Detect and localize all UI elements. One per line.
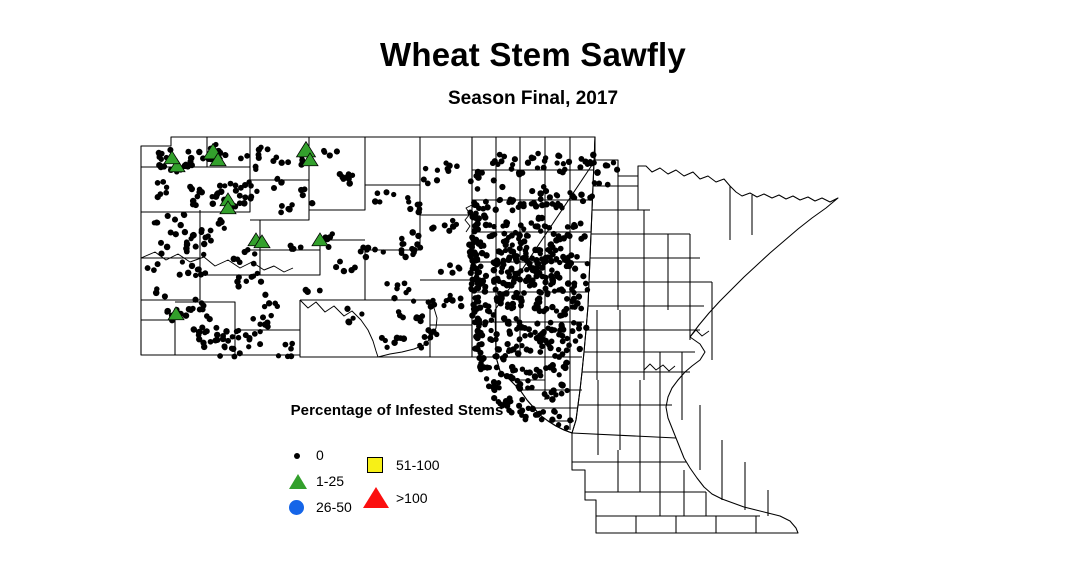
survey-point	[564, 296, 570, 302]
survey-point	[233, 182, 239, 188]
survey-point	[252, 331, 258, 337]
survey-point	[238, 156, 244, 162]
survey-point	[190, 202, 195, 207]
survey-point	[556, 347, 561, 352]
survey-point	[251, 261, 257, 267]
survey-point	[469, 287, 474, 292]
survey-point	[526, 233, 531, 238]
survey-point	[474, 335, 481, 342]
survey-point	[156, 162, 163, 169]
survey-point	[557, 169, 563, 175]
survey-point	[517, 381, 523, 387]
survey-point	[487, 336, 493, 342]
survey-point	[493, 207, 499, 213]
survey-point	[182, 229, 188, 235]
survey-point	[522, 333, 528, 339]
survey-point	[550, 251, 556, 257]
survey-point	[350, 173, 355, 178]
survey-point	[183, 245, 190, 252]
survey-point	[298, 244, 304, 250]
survey-point	[473, 252, 479, 258]
survey-point	[223, 328, 229, 334]
survey-point	[391, 295, 397, 301]
survey-point	[406, 287, 411, 292]
survey-point	[497, 197, 503, 203]
survey-point	[300, 192, 306, 198]
survey-point	[257, 341, 263, 347]
survey-point	[501, 258, 507, 264]
survey-point	[193, 273, 198, 278]
survey-point	[557, 153, 563, 159]
survey-point	[202, 270, 208, 276]
survey-point	[246, 344, 251, 349]
survey-point	[556, 422, 561, 427]
survey-point	[472, 346, 478, 352]
survey-point	[327, 152, 333, 158]
survey-point	[542, 158, 548, 164]
survey-point	[235, 283, 241, 289]
survey-point	[208, 228, 214, 234]
survey-point	[552, 289, 557, 294]
survey-point	[547, 225, 553, 231]
survey-point	[472, 295, 478, 301]
survey-point	[531, 200, 537, 206]
survey-point	[493, 331, 499, 337]
survey-point	[498, 371, 505, 378]
survey-point	[566, 263, 573, 270]
survey-point	[164, 185, 169, 190]
survey-point	[548, 282, 553, 287]
survey-point	[532, 330, 537, 335]
survey-point	[492, 232, 498, 238]
survey-point	[458, 303, 464, 309]
survey-point	[489, 317, 495, 323]
survey-point	[509, 306, 514, 311]
survey-point	[473, 305, 478, 310]
survey-point	[454, 163, 460, 169]
survey-point	[399, 250, 405, 256]
survey-point	[434, 177, 440, 183]
survey-point	[495, 346, 502, 353]
survey-point	[517, 201, 523, 207]
survey-point	[164, 244, 171, 251]
survey-point	[217, 353, 223, 359]
survey-point	[524, 370, 530, 376]
survey-point	[265, 146, 271, 152]
survey-point	[578, 306, 584, 312]
survey-point	[202, 234, 208, 240]
survey-point	[484, 204, 490, 210]
survey-point	[158, 251, 164, 257]
survey-point	[532, 373, 539, 380]
survey-point	[479, 170, 485, 176]
survey-point	[561, 235, 567, 241]
survey-point	[578, 156, 584, 162]
survey-point	[400, 314, 406, 320]
survey-point	[496, 385, 501, 390]
survey-point	[536, 299, 542, 305]
survey-point	[523, 251, 529, 257]
survey-point	[583, 325, 589, 331]
survey-point	[539, 215, 545, 221]
survey-point	[543, 275, 549, 281]
survey-point	[217, 217, 223, 223]
survey-point	[562, 257, 568, 263]
survey-point	[567, 417, 573, 423]
survey-point	[181, 212, 187, 218]
survey-point	[474, 270, 480, 276]
survey-point	[241, 200, 248, 207]
survey-point	[524, 245, 530, 251]
survey-point	[457, 266, 463, 272]
survey-point	[375, 190, 381, 196]
legend-label-51-100: 51-100	[396, 454, 440, 476]
survey-point	[242, 194, 248, 200]
survey-point	[478, 330, 483, 335]
survey-point	[417, 315, 422, 320]
survey-point	[204, 313, 210, 319]
survey-point	[585, 287, 590, 292]
survey-point	[208, 238, 214, 244]
survey-point	[450, 223, 457, 230]
survey-point	[578, 221, 584, 227]
survey-point	[199, 227, 205, 233]
survey-point	[540, 409, 546, 415]
survey-point	[521, 290, 527, 296]
survey-point	[246, 179, 251, 184]
survey-point	[236, 274, 242, 280]
survey-point	[524, 267, 529, 272]
survey-point	[468, 178, 474, 184]
survey-point	[497, 152, 503, 158]
survey-point	[352, 265, 358, 271]
survey-point	[190, 232, 196, 238]
survey-point	[258, 279, 264, 285]
survey-point	[210, 200, 216, 206]
legend: Percentage of Infested Stems 0 1-25 26-5…	[262, 402, 532, 520]
survey-point	[558, 381, 564, 387]
survey-point	[222, 226, 227, 231]
survey-point	[510, 207, 516, 213]
survey-point	[441, 303, 446, 308]
survey-point	[525, 160, 531, 166]
survey-point	[525, 378, 531, 384]
survey-point	[230, 346, 236, 352]
survey-point	[346, 319, 352, 325]
survey-point	[492, 354, 497, 359]
green-triangle-icon	[289, 474, 307, 489]
survey-point	[491, 177, 497, 183]
survey-point	[538, 196, 544, 202]
survey-point	[513, 290, 519, 296]
survey-point	[549, 267, 555, 273]
survey-point	[534, 321, 540, 327]
survey-point	[556, 354, 562, 360]
survey-point	[192, 297, 198, 303]
survey-point	[253, 164, 259, 170]
survey-point	[499, 269, 505, 275]
survey-point	[155, 194, 161, 200]
survey-point	[569, 193, 576, 200]
survey-point	[605, 182, 611, 188]
survey-point	[580, 273, 586, 279]
survey-point	[199, 189, 205, 195]
survey-point	[372, 247, 378, 253]
survey-point	[431, 329, 437, 335]
survey-point	[244, 153, 250, 159]
survey-point	[501, 231, 507, 237]
survey-point	[417, 343, 422, 348]
survey-point	[279, 203, 285, 209]
survey-point	[258, 145, 263, 150]
survey-point	[245, 247, 251, 253]
survey-point	[548, 320, 554, 326]
survey-point	[237, 193, 243, 199]
survey-point	[407, 206, 413, 212]
survey-point	[260, 314, 266, 320]
survey-point	[500, 223, 505, 228]
survey-point	[265, 324, 271, 330]
survey-point	[189, 263, 195, 269]
survey-point	[275, 304, 280, 309]
survey-point	[155, 261, 161, 267]
survey-point	[519, 343, 524, 348]
survey-point	[567, 233, 573, 239]
survey-point	[525, 385, 530, 390]
survey-point	[447, 297, 452, 302]
survey-point	[275, 176, 280, 181]
survey-point	[258, 329, 263, 334]
survey-point	[543, 255, 549, 261]
survey-point	[502, 353, 508, 359]
survey-point	[341, 268, 347, 274]
legend-label-26-50: 26-50	[316, 496, 352, 518]
survey-point	[278, 210, 284, 216]
survey-point	[409, 246, 415, 252]
survey-point	[173, 231, 179, 237]
survey-point	[509, 166, 515, 172]
survey-point	[145, 265, 151, 271]
survey-point	[270, 158, 276, 164]
survey-point	[492, 261, 497, 266]
survey-point	[180, 259, 185, 264]
survey-point	[256, 152, 262, 158]
survey-point	[484, 365, 490, 371]
survey-point	[244, 278, 250, 284]
survey-point	[337, 259, 343, 265]
survey-point	[566, 342, 572, 348]
survey-point	[554, 308, 559, 313]
survey-point	[543, 365, 549, 371]
survey-point	[564, 347, 570, 353]
survey-point	[549, 390, 555, 396]
survey-point	[534, 261, 539, 266]
state-county-map	[0, 0, 1066, 587]
survey-point	[473, 211, 479, 217]
survey-point	[199, 324, 205, 330]
survey-point	[303, 287, 309, 293]
survey-point	[551, 231, 557, 237]
survey-point	[186, 306, 193, 313]
survey-point	[487, 309, 493, 315]
survey-point	[545, 340, 550, 345]
survey-point	[491, 267, 498, 274]
legend-title: Percentage of Infested Stems	[262, 402, 532, 419]
survey-point	[517, 245, 523, 251]
survey-point	[577, 164, 583, 170]
survey-point	[614, 167, 620, 173]
survey-point	[213, 325, 219, 331]
survey-point	[571, 281, 577, 287]
survey-point	[254, 189, 259, 194]
survey-point	[469, 281, 475, 287]
survey-point	[541, 165, 547, 171]
survey-point	[539, 331, 546, 338]
survey-point	[576, 293, 582, 299]
survey-point	[383, 189, 389, 195]
survey-point	[276, 353, 281, 358]
survey-point	[558, 246, 564, 252]
survey-point	[288, 353, 294, 359]
survey-point	[428, 303, 434, 309]
map-figure: Wheat Stem Sawfly Season Final, 2017	[0, 0, 1066, 587]
survey-point	[197, 306, 203, 312]
survey-point	[509, 233, 515, 239]
survey-point	[450, 218, 456, 224]
survey-point	[585, 261, 590, 266]
survey-point	[317, 288, 323, 294]
survey-point	[481, 212, 487, 218]
survey-point	[334, 148, 340, 154]
survey-point	[155, 180, 161, 186]
survey-point	[155, 220, 161, 226]
survey-point	[201, 252, 206, 257]
survey-point	[555, 193, 561, 199]
survey-point	[605, 163, 610, 168]
survey-point	[196, 332, 202, 338]
survey-point	[522, 325, 528, 331]
survey-point	[537, 339, 543, 345]
survey-point	[503, 290, 509, 296]
survey-point	[422, 334, 428, 340]
survey-point	[391, 192, 396, 197]
survey-point	[493, 287, 499, 293]
survey-point	[490, 160, 496, 166]
survey-point	[344, 306, 350, 312]
survey-point	[447, 262, 453, 268]
survey-point	[577, 333, 583, 339]
survey-point	[417, 245, 423, 251]
survey-point	[536, 289, 542, 295]
blue-circle-icon	[289, 500, 304, 515]
map-canvas	[0, 0, 1066, 587]
survey-point	[488, 328, 493, 333]
survey-point	[564, 425, 570, 431]
survey-point	[184, 239, 190, 245]
survey-point	[476, 317, 482, 323]
survey-point	[285, 206, 291, 212]
survey-point	[482, 284, 488, 290]
survey-point	[154, 286, 159, 291]
survey-point	[557, 260, 562, 265]
survey-point	[518, 268, 523, 273]
survey-point	[576, 325, 582, 331]
survey-point	[236, 335, 242, 341]
survey-point	[542, 223, 548, 229]
survey-point	[533, 412, 539, 418]
survey-point	[548, 258, 554, 264]
survey-point	[195, 194, 201, 200]
red-triangle-icon	[363, 487, 389, 508]
survey-point	[506, 328, 512, 334]
survey-point	[537, 190, 544, 197]
survey-point	[497, 279, 502, 284]
survey-point	[446, 163, 452, 169]
survey-point	[162, 293, 168, 299]
survey-point	[217, 183, 223, 189]
survey-point	[196, 149, 202, 155]
survey-point	[363, 254, 369, 260]
survey-point	[535, 165, 540, 170]
survey-point	[399, 236, 405, 242]
survey-point	[396, 309, 401, 314]
survey-point	[469, 257, 475, 263]
survey-point	[556, 287, 561, 292]
survey-point	[551, 408, 557, 414]
survey-point	[230, 334, 235, 339]
survey-point	[228, 181, 234, 187]
survey-point	[477, 365, 482, 370]
survey-point	[531, 155, 536, 160]
survey-point	[538, 228, 543, 233]
survey-point	[494, 365, 500, 371]
survey-point	[537, 247, 543, 253]
survey-point	[289, 341, 295, 347]
legend-label-0: 0	[316, 444, 324, 466]
yellow-square-icon	[367, 457, 383, 473]
survey-point	[506, 255, 512, 261]
survey-point	[483, 199, 489, 205]
survey-point	[471, 228, 477, 234]
survey-point	[201, 344, 207, 350]
survey-point	[535, 151, 541, 157]
survey-point	[571, 320, 577, 326]
survey-point	[165, 213, 171, 219]
survey-point	[568, 252, 574, 258]
survey-point	[185, 270, 192, 277]
survey-point	[611, 160, 616, 165]
survey-point	[587, 159, 593, 165]
survey-point	[486, 304, 492, 310]
survey-point	[372, 198, 379, 205]
survey-point	[164, 309, 169, 314]
survey-point	[529, 188, 535, 194]
survey-point	[571, 290, 576, 295]
survey-point	[435, 168, 440, 173]
survey-point	[178, 222, 184, 228]
survey-point	[559, 391, 565, 397]
survey-point	[423, 341, 429, 347]
survey-point	[507, 272, 512, 277]
survey-point	[563, 306, 569, 312]
survey-point	[231, 256, 238, 263]
survey-point	[402, 280, 408, 286]
survey-point	[333, 264, 339, 270]
survey-point	[510, 249, 516, 255]
survey-point	[484, 376, 489, 381]
survey-point	[513, 275, 519, 281]
survey-point	[529, 220, 535, 226]
